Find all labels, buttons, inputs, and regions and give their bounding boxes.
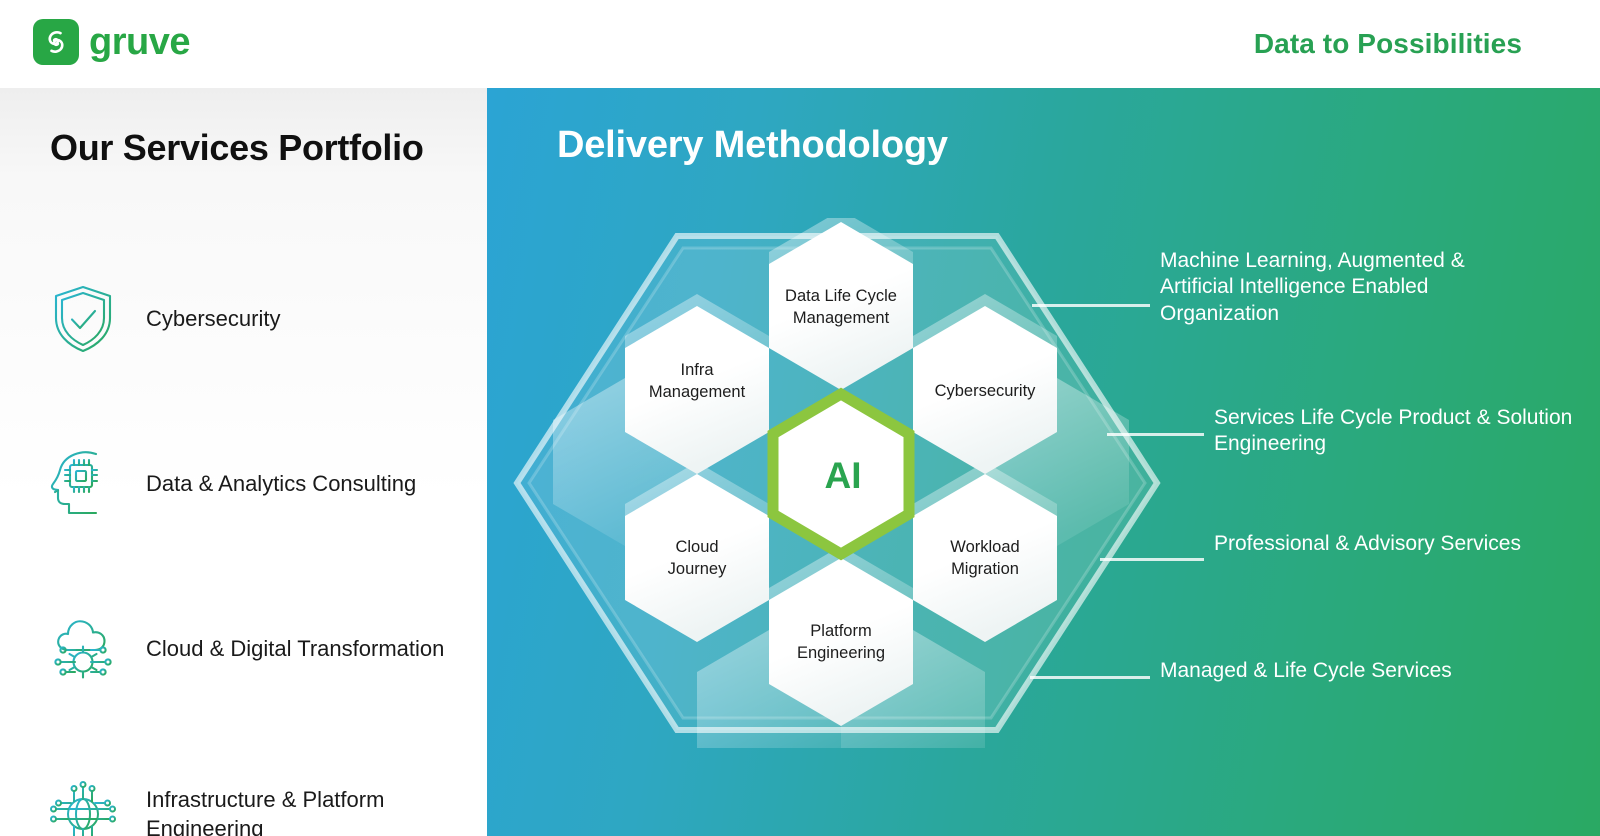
annotation-text-2: Services Life Cycle Product & Solution E… <box>1214 405 1594 458</box>
gruve-swirl-logo-icon <box>33 19 79 65</box>
services-sidebar: Our Services Portfolio <box>0 88 487 836</box>
annotation-group: Machine Learning, Augmented & Artificial… <box>487 88 1600 836</box>
services-list: Cybersecurity <box>44 264 474 836</box>
list-item-label: Data & Analytics Consulting <box>146 469 416 498</box>
connector-line-4 <box>1030 676 1150 679</box>
list-item-label: Cybersecurity <box>146 304 280 333</box>
list-item-label: Infrastructure & Platform Engineering <box>146 785 466 836</box>
annotation-text-3: Professional & Advisory Services <box>1214 531 1594 557</box>
connector-line-3 <box>1100 558 1204 561</box>
cloud-gear-network-icon <box>44 610 122 688</box>
globe-network-icon <box>44 775 122 836</box>
list-item[interactable]: Infrastructure & Platform Engineering <box>44 759 474 836</box>
list-item[interactable]: Data & Analytics Consulting <box>44 429 474 539</box>
page-header: gruve Data to Possibilities <box>0 0 1600 88</box>
logo-wordmark: gruve <box>89 23 190 61</box>
list-item[interactable]: Cybersecurity <box>44 264 474 374</box>
head-chip-icon <box>44 445 122 523</box>
shield-check-icon <box>44 280 122 358</box>
connector-line-2 <box>1107 433 1204 436</box>
header-tagline: Data to Possibilities <box>1254 28 1522 60</box>
page-title: Our Services Portfolio <box>50 128 450 168</box>
slide-root: gruve Data to Possibilities Our Services… <box>0 0 1600 836</box>
delivery-methodology-panel: Delivery Methodology <box>487 88 1600 836</box>
list-item[interactable]: Cloud & Digital Transformation <box>44 594 474 704</box>
annotation-text-4: Managed & Life Cycle Services <box>1160 658 1540 684</box>
brand-logo[interactable]: gruve <box>33 19 190 65</box>
list-item-label: Cloud & Digital Transformation <box>146 634 444 663</box>
connector-line-1 <box>1032 304 1150 307</box>
annotation-text-1: Machine Learning, Augmented & Artificial… <box>1160 248 1540 327</box>
